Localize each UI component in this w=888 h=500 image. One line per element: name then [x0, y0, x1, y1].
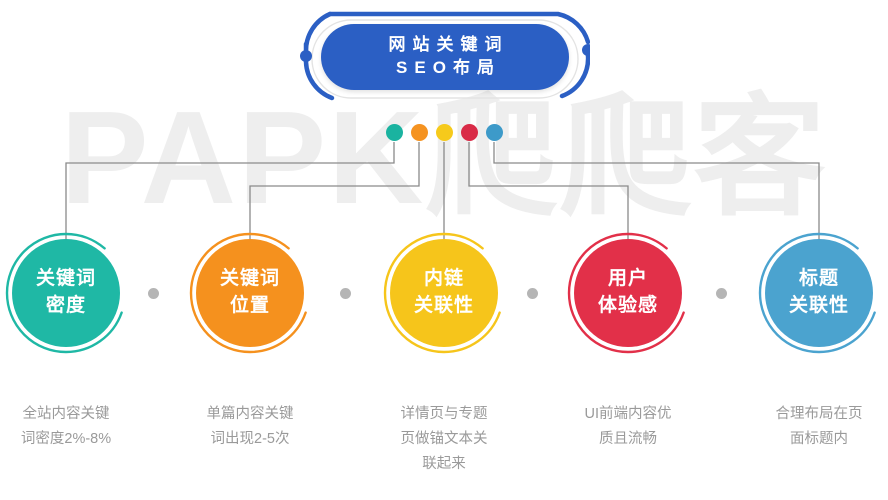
- caption-line: 词密度2%-8%: [0, 427, 154, 452]
- separator-dot: [527, 288, 538, 299]
- caption-line: 合理布局在页: [731, 402, 888, 427]
- node-label-line1: 用户: [608, 266, 648, 293]
- node-internal-link[interactable]: 内链 关联性: [381, 230, 507, 356]
- caption-line: 全站内容关键: [0, 402, 154, 427]
- node-label-line1: 内链: [424, 266, 464, 293]
- pin-head-icon: [486, 124, 503, 141]
- caption-line: 质且流畅: [540, 427, 716, 452]
- pin-head-icon: [411, 124, 428, 141]
- node-label-line2: 关联性: [789, 293, 849, 320]
- node-keyword-density[interactable]: 关键词 密度: [3, 230, 129, 356]
- node-label-line2: 位置: [230, 293, 270, 320]
- caption-line: 联起来: [356, 452, 532, 477]
- pin-head-icon: [436, 124, 453, 141]
- caption-line: 面标题内: [731, 427, 888, 452]
- separator-dot: [340, 288, 351, 299]
- node-keyword-position[interactable]: 关键词 位置: [187, 230, 313, 356]
- caption-internal-link: 详情页与专题 页做锚文本关 联起来: [356, 402, 532, 477]
- node-disc: 关键词 位置: [196, 239, 304, 347]
- node-label-line2: 密度: [46, 293, 86, 320]
- caption-user-experience: UI前端内容优 质且流畅: [540, 402, 716, 452]
- node-disc: 标题 关联性: [765, 239, 873, 347]
- caption-line: 词出现2-5次: [162, 427, 338, 452]
- infographic-canvas: PAPK爬爬客 网站关键: [0, 0, 888, 500]
- pin-head-icon: [386, 124, 403, 141]
- caption-keyword-position: 单篇内容关键 词出现2-5次: [162, 402, 338, 452]
- node-label-line1: 关键词: [220, 266, 280, 293]
- pin-head-icon: [461, 124, 478, 141]
- node-title-relevance[interactable]: 标题 关联性: [756, 230, 882, 356]
- caption-title-relevance: 合理布局在页 面标题内: [731, 402, 888, 452]
- separator-dot: [148, 288, 159, 299]
- node-disc: 内链 关联性: [390, 239, 498, 347]
- node-label-line1: 关键词: [36, 266, 96, 293]
- caption-line: 详情页与专题: [356, 402, 532, 427]
- header-pill: 网站关键词 SEO布局: [321, 24, 569, 90]
- node-user-experience[interactable]: 用户 体验感: [565, 230, 691, 356]
- caption-line: UI前端内容优: [540, 402, 716, 427]
- node-label-line1: 标题: [799, 266, 839, 293]
- caption-keyword-density: 全站内容关键 词密度2%-8%: [0, 402, 154, 452]
- header-title-line2: SEO布局: [389, 57, 501, 80]
- separator-dot: [716, 288, 727, 299]
- caption-line: 单篇内容关键: [162, 402, 338, 427]
- header-title-line1: 网站关键词: [382, 34, 509, 57]
- node-label-line2: 体验感: [598, 293, 658, 320]
- node-disc: 关键词 密度: [12, 239, 120, 347]
- node-label-line2: 关联性: [414, 293, 474, 320]
- node-disc: 用户 体验感: [574, 239, 682, 347]
- header-banner: 网站关键词 SEO布局: [300, 6, 590, 104]
- caption-line: 页做锚文本关: [356, 427, 532, 452]
